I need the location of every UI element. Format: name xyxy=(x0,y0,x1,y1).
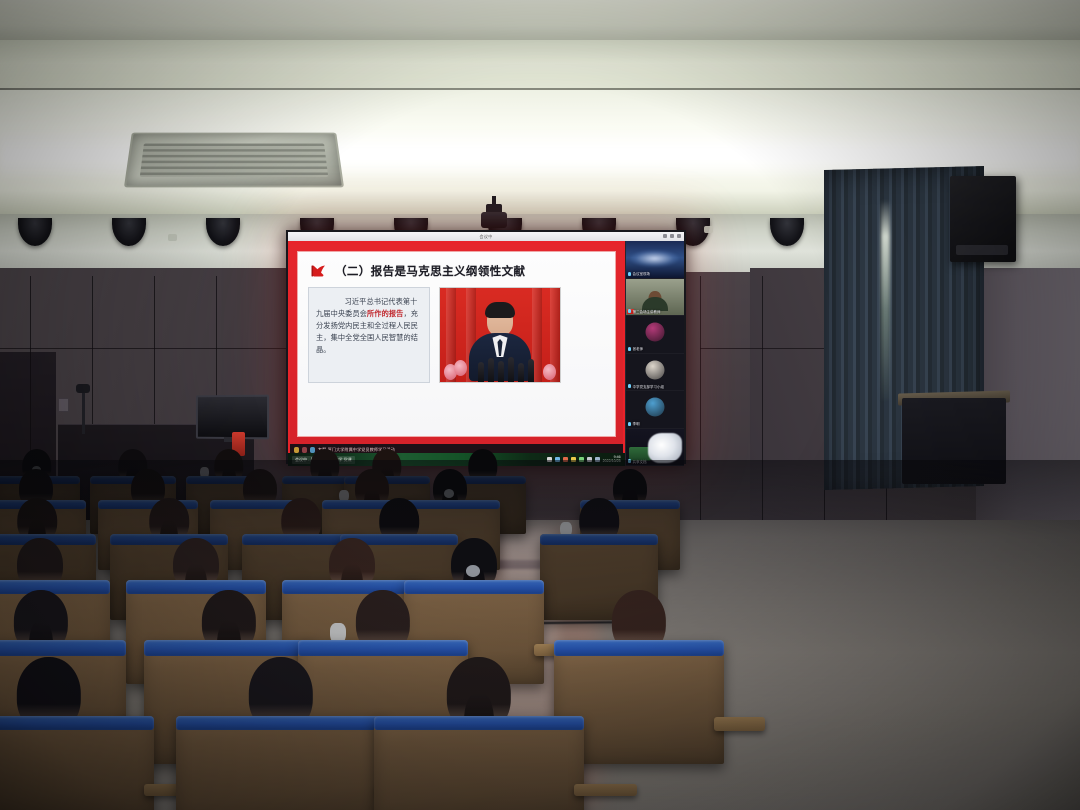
cloud-icon[interactable] xyxy=(555,457,560,462)
slide-title-row: （二）报告是马克思主义纲领性文献 xyxy=(310,263,605,279)
microphone-icon xyxy=(628,422,631,426)
participant-name: 李明 xyxy=(633,421,640,426)
microphone-icon xyxy=(628,384,631,388)
microphone-icon xyxy=(628,347,631,351)
photo-microphone-row xyxy=(440,352,560,382)
seat-armrest xyxy=(574,784,637,796)
clock-date: 2022/10/25 xyxy=(603,459,621,463)
participant-name: 张老师 xyxy=(633,346,643,351)
microphone-icon xyxy=(628,459,631,463)
avatar xyxy=(645,360,664,379)
ceiling-projector xyxy=(481,212,507,228)
tile-avatar-3[interactable]: 李明 xyxy=(626,391,684,429)
lecture-hall-scene: 会议中 xyxy=(0,0,1080,810)
participant-video-rail[interactable]: 会议室现场第二会场主讲教师张老师中学党支部学习小组李明共享文档 xyxy=(625,241,684,466)
window-light-glint xyxy=(881,200,890,400)
minimize-icon[interactable] xyxy=(663,234,667,238)
speaker-at-podium-photo xyxy=(439,287,561,383)
auditorium-seat[interactable] xyxy=(374,716,584,810)
ceiling-sprinkler xyxy=(168,234,177,241)
slide-content: 习近平总书记代表第十九届中央委员会所作的报告，充分发扬党内民主和全过程人民民主，… xyxy=(308,287,605,383)
participant-name: 会议室现场 xyxy=(633,271,650,276)
microphone-icon xyxy=(628,272,631,276)
close-icon[interactable] xyxy=(677,234,681,238)
participant-name: 中学党支部学习小组 xyxy=(633,384,664,389)
system-tray[interactable]: 9:46 2022/10/25 xyxy=(547,456,621,464)
slide-canvas: （二）报告是马克思主义纲领性文献 习近平总书记代表第十九届中央委员会所作的报告，… xyxy=(297,251,616,437)
slide-area: （二）报告是马克思主义纲领性文献 习近平总书记代表第十九届中央委员会所作的报告，… xyxy=(288,241,625,466)
wall-mounted-speaker xyxy=(950,176,1016,262)
hair-scrunchie xyxy=(444,489,454,498)
window-controls[interactable] xyxy=(663,234,681,238)
side-lectern xyxy=(902,398,1006,484)
participant-label: 李明 xyxy=(628,421,640,426)
meeting-window-body: （二）报告是马克思主义纲领性文献 习近平总书记代表第十九届中央委员会所作的报告，… xyxy=(288,241,684,466)
battery-icon[interactable] xyxy=(579,457,584,462)
chevron-up-icon[interactable] xyxy=(547,457,552,462)
participant-name: 共享文档 xyxy=(633,459,647,464)
participant-label: 共享文档 xyxy=(628,459,647,464)
wall-socket xyxy=(58,398,69,412)
auditorium-seat[interactable] xyxy=(176,716,386,810)
participant-label: 会议室现场 xyxy=(628,271,650,276)
seat-armrest xyxy=(714,717,765,731)
avatar xyxy=(645,323,664,342)
photo-speaker-head xyxy=(487,305,513,336)
network-icon[interactable] xyxy=(563,457,568,462)
notification-icon[interactable] xyxy=(595,457,600,462)
tile-avatar-2[interactable]: 中学党支部学习小组 xyxy=(626,354,684,392)
volume-icon[interactable] xyxy=(571,457,576,462)
auditorium-seat[interactable] xyxy=(0,716,154,810)
ceiling-band xyxy=(0,40,1080,92)
wall-panel-seam xyxy=(700,276,701,526)
slide-red-border: （二）报告是马克思主义纲领性文献 习近平总书记代表第十九届中央委员会所作的报告，… xyxy=(290,244,623,444)
projection-screen[interactable]: 会议中 xyxy=(286,230,686,464)
tile-stage[interactable]: 会议室现场 xyxy=(626,241,684,279)
ceiling-ac-vent xyxy=(124,133,344,188)
slide-body-emphasis: 所作的报告 xyxy=(367,309,403,318)
podium-microphone xyxy=(82,390,85,434)
ime-icon[interactable] xyxy=(587,457,592,462)
ceiling-sprinkler xyxy=(704,226,713,233)
party-hammer-sickle-emblem xyxy=(310,263,327,279)
tile-person[interactable]: 第二会场主讲教师 xyxy=(626,279,684,317)
avatar xyxy=(645,398,664,417)
window-titlebar: 会议中 xyxy=(288,232,684,241)
maximize-icon[interactable] xyxy=(670,234,674,238)
participant-name: 第二会场主讲教师 xyxy=(633,309,661,314)
tile-doc[interactable]: 共享文档 xyxy=(626,429,684,467)
hair-scrunchie xyxy=(466,565,480,577)
participant-label: 中学党支部学习小组 xyxy=(628,384,664,389)
slide-textbox: 习近平总书记代表第十九届中央委员会所作的报告，充分发扬党内民主和全过程人民民主，… xyxy=(308,287,430,383)
microphone-icon xyxy=(628,309,631,313)
podium-microphone-head xyxy=(76,384,90,393)
participant-label: 张老师 xyxy=(628,346,643,351)
wall-panel-seam xyxy=(0,348,300,349)
window-title: 会议中 xyxy=(480,234,493,240)
participant-label: 第二会场主讲教师 xyxy=(628,309,661,314)
slide-title: （二）报告是马克思主义纲领性文献 xyxy=(335,263,525,279)
wall-panel-seam xyxy=(762,276,763,526)
taskbar-clock[interactable]: 9:46 2022/10/25 xyxy=(603,456,621,464)
tile-avatar-1[interactable]: 张老师 xyxy=(626,316,684,354)
